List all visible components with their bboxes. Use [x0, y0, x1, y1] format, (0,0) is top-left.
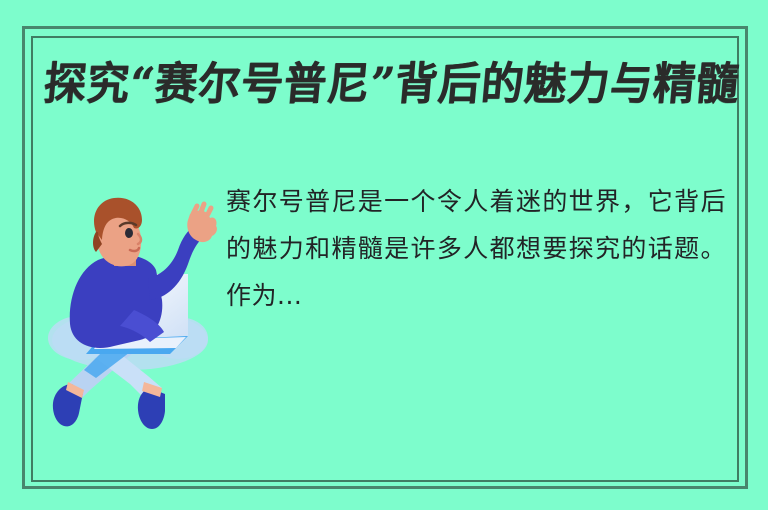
- poster-canvas: 探究“赛尔号普尼”背后的魅力与精髓 赛尔号普尼是一个令人着迷的世界，它背后的魅力…: [0, 0, 768, 510]
- article-excerpt: 赛尔号普尼是一个令人着迷的世界，它背后的魅力和精髓是许多人都想要探究的话题。作为…: [226, 178, 726, 319]
- illustration-person-with-laptop: [38, 188, 218, 438]
- shoes: [53, 382, 165, 429]
- page-title: 探究“赛尔号普尼”背后的魅力与精髓: [41, 55, 736, 112]
- head: [93, 198, 142, 267]
- hand: [187, 204, 217, 242]
